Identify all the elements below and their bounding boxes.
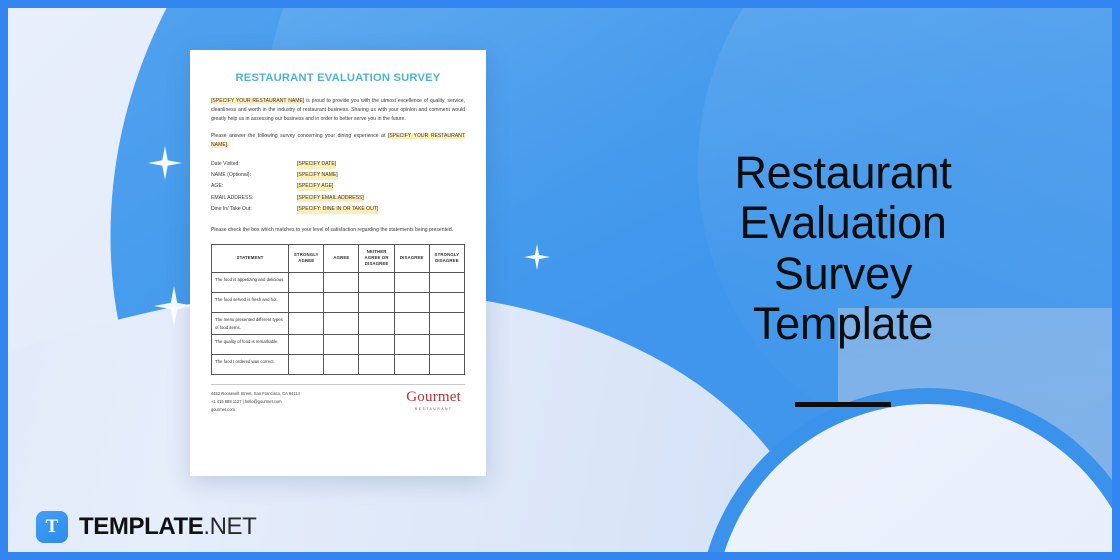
headline-line-4: Template [684,299,1002,349]
checkbox-cell[interactable] [429,272,464,292]
column-header-strongly-agree: STRONGLY AGREE [289,244,324,272]
field-row: Dine In/ Take Out: [SPECIFY: DINE IN OR … [211,206,465,214]
column-header-neither: NEITHER AGREE OR DISAGREE [359,244,394,272]
headline-line-3: Survey [684,249,1002,299]
checkbox-cell[interactable] [429,312,464,334]
statement-cell: The menu presented different types of fo… [212,312,289,334]
statement-cell: The food is appetizing and delicious. [212,272,289,292]
checkbox-cell[interactable] [429,292,464,312]
statement-cell: The food I ordered was correct. [212,355,289,375]
satisfaction-table: STATEMENT STRONGLY AGREE AGREE NEITHER A… [211,244,465,376]
checkbox-cell[interactable] [324,272,359,292]
field-row: EMAIL ADDRESS: [SPECIFY EMAIL ADDRESS] [211,195,465,203]
gourmet-logo-subtitle: RESTAURANT [406,407,461,411]
checkbox-cell[interactable] [359,355,394,375]
footer-contact: +1 415 888 1127 | hello@gourmet.com [211,398,300,406]
table-row: The food is appetizing and delicious. [212,272,465,292]
column-header-agree: AGREE [324,244,359,272]
statement-cell: The food served is fresh and hot. [212,292,289,312]
document-intro-paragraph: [SPECIFY YOUR RESTAURANT NAME] is proud … [211,97,465,124]
checkbox-cell[interactable] [289,355,324,375]
statement-cell: The quality of food is remarkable. [212,335,289,355]
checkbox-cell[interactable] [324,335,359,355]
survey-instruction: Please check the box which matches to yo… [211,226,465,235]
headline-line-1: Restaurant [684,148,1002,198]
checkbox-cell[interactable] [289,292,324,312]
checkbox-cell[interactable] [394,292,429,312]
field-row: Date Visited: [SPECIFY DATE] [211,161,465,169]
checkbox-cell[interactable] [324,355,359,375]
checkbox-cell[interactable] [394,335,429,355]
table-header-row: STATEMENT STRONGLY AGREE AGREE NEITHER A… [212,244,465,272]
column-header-disagree: DISAGREE [394,244,429,272]
field-row: NAME (Optional): [SPECIFY NAME] [211,172,465,180]
checkbox-cell[interactable] [289,335,324,355]
field-value[interactable]: [SPECIFY: DINE IN OR TAKE OUT] [297,206,378,214]
field-value[interactable]: [SPECIFY NAME] [297,172,338,180]
poster-stage: RESTAURANT EVALUATION SURVEY [SPECIFY YO… [8,8,1112,552]
sparkle-icon [148,146,182,180]
intro-highlight-placeholder: [SPECIFY YOUR RESTAURANT NAME] [211,98,304,104]
field-value[interactable]: [SPECIFY EMAIL ADDRESS] [297,195,364,203]
table-row: The food I ordered was correct. [212,355,465,375]
column-header-statement: STATEMENT [212,244,289,272]
checkbox-cell[interactable] [394,272,429,292]
footer-address: 4452 Roosevelt Street, San Francisco, CA… [211,390,300,398]
checkbox-cell[interactable] [324,312,359,334]
footer-website: gourmet.com [211,406,300,414]
table-row: The quality of food is remarkable. [212,335,465,355]
document-title: RESTAURANT EVALUATION SURVEY [211,72,465,84]
field-row: AGE: [SPECIFY AGE] [211,183,465,191]
checkbox-cell[interactable] [394,355,429,375]
checkbox-cell[interactable] [359,292,394,312]
field-label: Date Visited: [211,161,297,169]
checkbox-cell[interactable] [429,355,464,375]
page-title: Restaurant Evaluation Survey Template [684,148,1002,350]
poster-frame: RESTAURANT EVALUATION SURVEY [SPECIFY YO… [0,0,1120,560]
checkbox-cell[interactable] [324,292,359,312]
field-label: AGE: [211,183,297,191]
field-label: Dine In/ Take Out: [211,206,297,214]
table-row: The food served is fresh and hot. [212,292,465,312]
document-footer: 4452 Roosevelt Street, San Francisco, CA… [211,384,465,414]
checkbox-cell[interactable] [359,312,394,334]
brand-name-light: .NET [203,513,256,540]
checkbox-cell[interactable] [429,335,464,355]
sparkle-icon [524,244,550,270]
field-label: EMAIL ADDRESS: [211,195,297,203]
table-row: The menu presented different types of fo… [212,312,465,334]
gourmet-logo-word: Gourmet [406,390,461,405]
checkbox-cell[interactable] [359,272,394,292]
field-value[interactable]: [SPECIFY DATE] [297,161,336,169]
templatenet-logo-mark: T [36,511,68,543]
second-paragraph-text: Please answer the following survey conce… [211,133,388,139]
field-value[interactable]: [SPECIFY AGE] [297,183,333,191]
respondent-fields: Date Visited: [SPECIFY DATE] NAME (Optio… [211,161,465,213]
headline-line-2: Evaluation [684,198,1002,248]
checkbox-cell[interactable] [289,272,324,292]
templatenet-logo-text: TEMPLATE.NET [79,513,256,541]
sparkle-icon [154,286,194,326]
checkbox-cell[interactable] [394,312,429,334]
gourmet-logo: Gourmet RESTAURANT [406,390,465,411]
headline-underline-bar [795,402,891,407]
checkbox-cell[interactable] [289,312,324,334]
column-header-strongly-disagree: STRONGLY DISAGREE [429,244,464,272]
document-second-paragraph: Please answer the following survey conce… [211,132,465,150]
footer-contact-block: 4452 Roosevelt Street, San Francisco, CA… [211,390,300,414]
brand-name-bold: TEMPLATE [79,513,203,540]
field-label: NAME (Optional): [211,172,297,180]
document-preview[interactable]: RESTAURANT EVALUATION SURVEY [SPECIFY YO… [190,50,486,476]
checkbox-cell[interactable] [359,335,394,355]
templatenet-logo[interactable]: T TEMPLATE.NET [36,511,256,543]
